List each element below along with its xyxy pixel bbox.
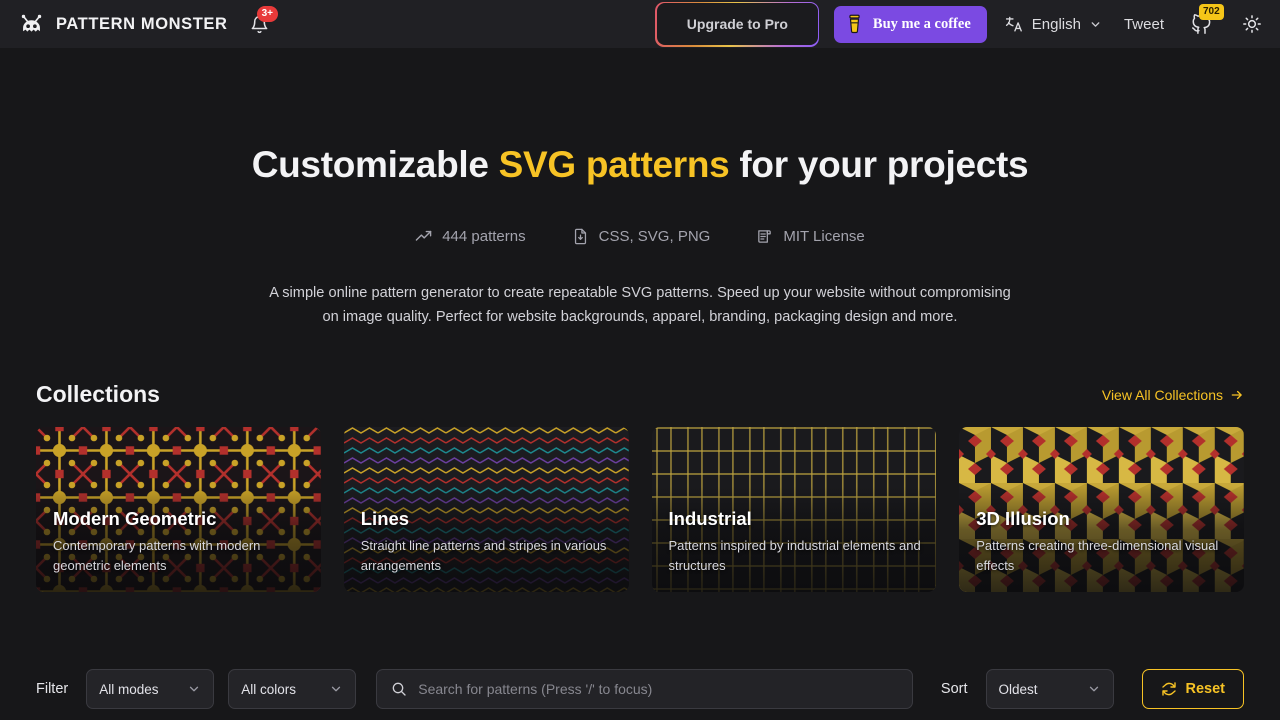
arrow-right-icon [1230, 388, 1244, 402]
card-title: Industrial [669, 508, 923, 530]
card-title: Lines [361, 508, 615, 530]
color-select-value: All colors [241, 682, 296, 697]
app-header: PATTERN MONSTER 3+ Upgrade to Pro Buy me… [0, 0, 1280, 48]
github-star-count: 702 [1199, 4, 1224, 20]
card-description: Patterns inspired by industrial elements… [669, 536, 923, 576]
card-description: Contemporary patterns with modern geomet… [53, 536, 307, 576]
stat-formats: CSS, SVG, PNG [572, 228, 711, 245]
hero-section: Customizable SVG patterns for your proje… [0, 48, 1280, 329]
collections-title: Collections [36, 381, 160, 408]
card-title: 3D Illusion [976, 508, 1230, 530]
view-all-label: View All Collections [1102, 387, 1223, 403]
chevron-down-icon [187, 682, 201, 696]
collection-card-industrial[interactable]: Industrial Patterns inspired by industri… [652, 427, 937, 592]
collection-card-3d-illusion[interactable]: 3D Illusion Patterns creating three-dime… [959, 427, 1244, 592]
reset-button[interactable]: Reset [1142, 669, 1245, 709]
collections-grid: Modern Geometric Contemporary patterns w… [36, 427, 1244, 592]
notification-badge: 3+ [257, 6, 278, 22]
stat-license-label: MIT License [783, 228, 864, 245]
theme-toggle-button[interactable] [1240, 12, 1264, 36]
coffee-label: Buy me a coffee [873, 16, 971, 33]
chevron-down-icon [329, 682, 343, 696]
stat-license: MIT License [756, 228, 864, 245]
language-label: English [1032, 16, 1081, 33]
chevron-down-icon [1087, 682, 1101, 696]
upgrade-to-pro-wrapper: Upgrade to Pro [657, 3, 818, 45]
search-icon [391, 681, 407, 697]
coffee-cup-icon [846, 14, 863, 34]
github-link[interactable]: 702 [1188, 9, 1214, 39]
sort-select[interactable]: Oldest [986, 669, 1114, 709]
chevron-down-icon [1089, 18, 1102, 31]
card-text: Modern Geometric Contemporary patterns w… [53, 508, 307, 576]
collection-card-modern-geometric[interactable]: Modern Geometric Contemporary patterns w… [36, 427, 321, 592]
hero-description: A simple online pattern generator to cre… [260, 281, 1020, 329]
brand-title: PATTERN MONSTER [56, 15, 228, 34]
sort-select-value: Oldest [999, 682, 1038, 697]
reset-label: Reset [1186, 681, 1226, 697]
filter-bar: Filter All modes All colors Sort Oldest [0, 658, 1280, 720]
file-download-icon [572, 228, 589, 245]
color-select[interactable]: All colors [228, 669, 356, 709]
hero-title-part1: Customizable [252, 144, 499, 185]
card-text: 3D Illusion Patterns creating three-dime… [976, 508, 1230, 576]
collections-header: Collections View All Collections [36, 381, 1244, 408]
card-text: Lines Straight line patterns and stripes… [361, 508, 615, 576]
card-description: Patterns creating three-dimensional visu… [976, 536, 1230, 576]
page-title: Customizable SVG patterns for your proje… [0, 144, 1280, 186]
card-text: Industrial Patterns inspired by industri… [669, 508, 923, 576]
collection-card-lines[interactable]: Lines Straight line patterns and stripes… [344, 427, 629, 592]
language-selector[interactable]: English [1005, 15, 1102, 34]
sort-label: Sort [941, 681, 968, 697]
collections-section: Collections View All Collections [0, 381, 1280, 592]
view-all-collections-link[interactable]: View All Collections [1102, 387, 1244, 403]
translate-icon [1005, 15, 1024, 34]
card-title: Modern Geometric [53, 508, 307, 530]
refresh-icon [1161, 681, 1177, 697]
mode-select-value: All modes [99, 682, 158, 697]
hero-stats: 444 patterns CSS, SVG, PNG MIT Licen [0, 228, 1280, 245]
brand[interactable]: PATTERN MONSTER [18, 11, 228, 38]
mode-select[interactable]: All modes [86, 669, 214, 709]
stat-patterns-label: 444 patterns [442, 228, 525, 245]
stat-formats-label: CSS, SVG, PNG [599, 228, 711, 245]
license-scroll-icon [756, 228, 773, 245]
card-description: Straight line patterns and stripes in va… [361, 536, 615, 576]
filter-label: Filter [36, 681, 68, 697]
search-input[interactable] [418, 681, 898, 697]
trending-up-icon [415, 228, 432, 245]
header-actions: Upgrade to Pro Buy me a coffee Engli [657, 3, 1264, 45]
monster-logo-icon [18, 11, 45, 38]
notifications-button[interactable]: 3+ [248, 10, 272, 38]
hero-title-accent: SVG patterns [499, 144, 730, 185]
tweet-button[interactable]: Tweet [1124, 16, 1164, 33]
stat-patterns: 444 patterns [415, 228, 525, 245]
buy-me-a-coffee-button[interactable]: Buy me a coffee [834, 6, 987, 43]
upgrade-to-pro-button[interactable]: Upgrade to Pro [657, 3, 818, 45]
hero-title-part2: for your projects [729, 144, 1028, 185]
sun-icon [1242, 14, 1262, 34]
search-box[interactable] [376, 669, 913, 709]
